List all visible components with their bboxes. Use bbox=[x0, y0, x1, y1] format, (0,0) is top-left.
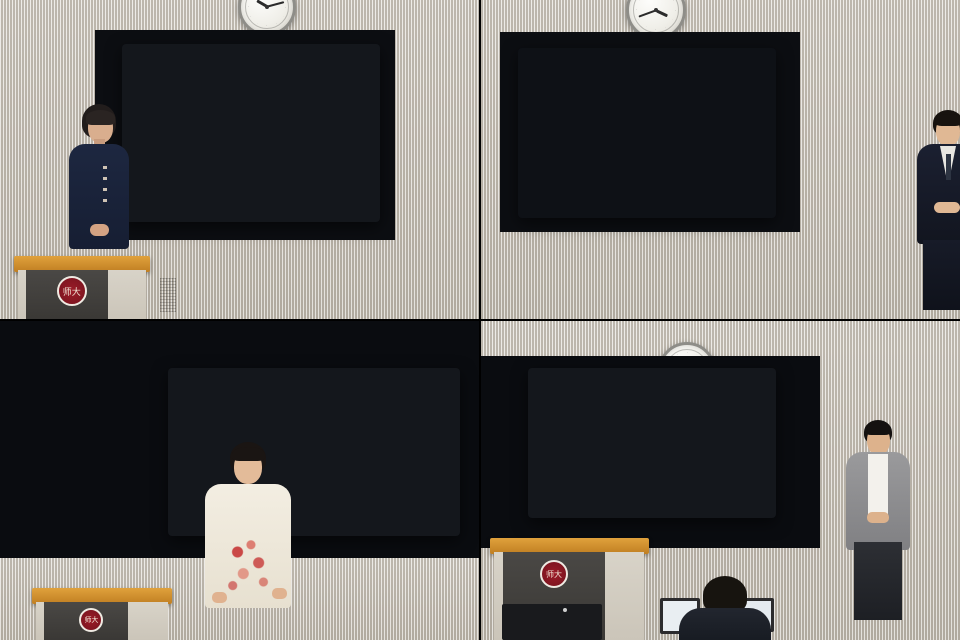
presenter-jacket-buttons bbox=[103, 166, 107, 210]
presenter-shirt bbox=[868, 454, 888, 516]
podium-bottom-left: 师大 bbox=[36, 588, 168, 640]
photo-collage: 课程概述 | 课程基本信息 超星 课程定位与目标 培养数字化应用能力 信息化素养… bbox=[0, 0, 960, 640]
presenter-trousers bbox=[923, 240, 960, 310]
university-emblem: 师大 bbox=[540, 560, 568, 588]
presenter-tie bbox=[946, 154, 951, 180]
presenter-bottom-right bbox=[838, 420, 918, 620]
presenter-suit-jacket bbox=[917, 144, 960, 244]
panel-bottom-left: 课程概述 1989 《运动心理学》课程 2019 《体育心理学》MOOC 202… bbox=[0, 320, 480, 640]
wall-speaker-grill bbox=[160, 278, 176, 312]
seated-attendee bbox=[660, 572, 790, 640]
display-screen-bezel: 教学设计 学情分析 起点 水平 学生已在学前专业学习解剖生理、普通心理等课程基础… bbox=[518, 48, 776, 218]
clock-hour-hand bbox=[656, 9, 668, 17]
university-emblem: 师大 bbox=[57, 276, 87, 306]
clock-minute-hand bbox=[638, 9, 656, 17]
presenter-hair-front bbox=[935, 114, 960, 126]
presenter-top-left bbox=[62, 104, 136, 254]
panel-top-right: 教学设计 学情分析 起点 水平 学生已在学前专业学习解剖生理、普通心理等课程基础… bbox=[480, 0, 960, 320]
display-screen-bezel: 二、教学实践中的真实问题 学生学情 体育基础参差（技下） 兴趣与学习（兴上） 课… bbox=[528, 368, 776, 518]
presenter-bottom-left bbox=[200, 442, 296, 640]
presenter-hand-right bbox=[272, 588, 287, 599]
presenter-hand-left bbox=[212, 592, 227, 603]
podium-bottom-right: 师大 bbox=[494, 538, 644, 640]
presenter-hair-front bbox=[865, 424, 891, 435]
presenter-top-right bbox=[910, 110, 960, 310]
presenter-hair-front bbox=[86, 110, 115, 125]
presenter-hair-front bbox=[232, 447, 265, 461]
panel-bottom-right: 二、教学实践中的真实问题 学生学情 体育基础参差（技下） 兴趣与学习（兴上） 课… bbox=[480, 320, 960, 640]
clock-minute-hand bbox=[267, 1, 285, 8]
clock-center-pin bbox=[265, 5, 269, 9]
clock-ticks bbox=[636, 0, 676, 30]
podium-indicator-light bbox=[563, 608, 567, 612]
presenter-hands bbox=[90, 224, 109, 236]
podium-top-left: 师大 bbox=[18, 256, 146, 320]
panel-top-left: 课程概述 | 课程基本信息 超星 课程定位与目标 培养数字化应用能力 信息化素养… bbox=[0, 0, 480, 320]
attendee-jacket bbox=[679, 608, 771, 640]
display-screen-bezel: 课程概述 | 课程基本信息 超星 课程定位与目标 培养数字化应用能力 信息化素养… bbox=[122, 44, 380, 222]
clock-ticks bbox=[248, 0, 286, 26]
collage-horizontal-divider bbox=[0, 319, 960, 321]
presenter-trousers bbox=[854, 542, 902, 620]
presenter-hands bbox=[867, 512, 889, 523]
presenter-sweater-floral-print bbox=[226, 534, 274, 594]
podium-control-panel[interactable] bbox=[502, 604, 603, 640]
clock-center-pin bbox=[654, 8, 658, 12]
presenter-hands bbox=[934, 202, 960, 213]
clock-hour-hand bbox=[256, 0, 268, 8]
